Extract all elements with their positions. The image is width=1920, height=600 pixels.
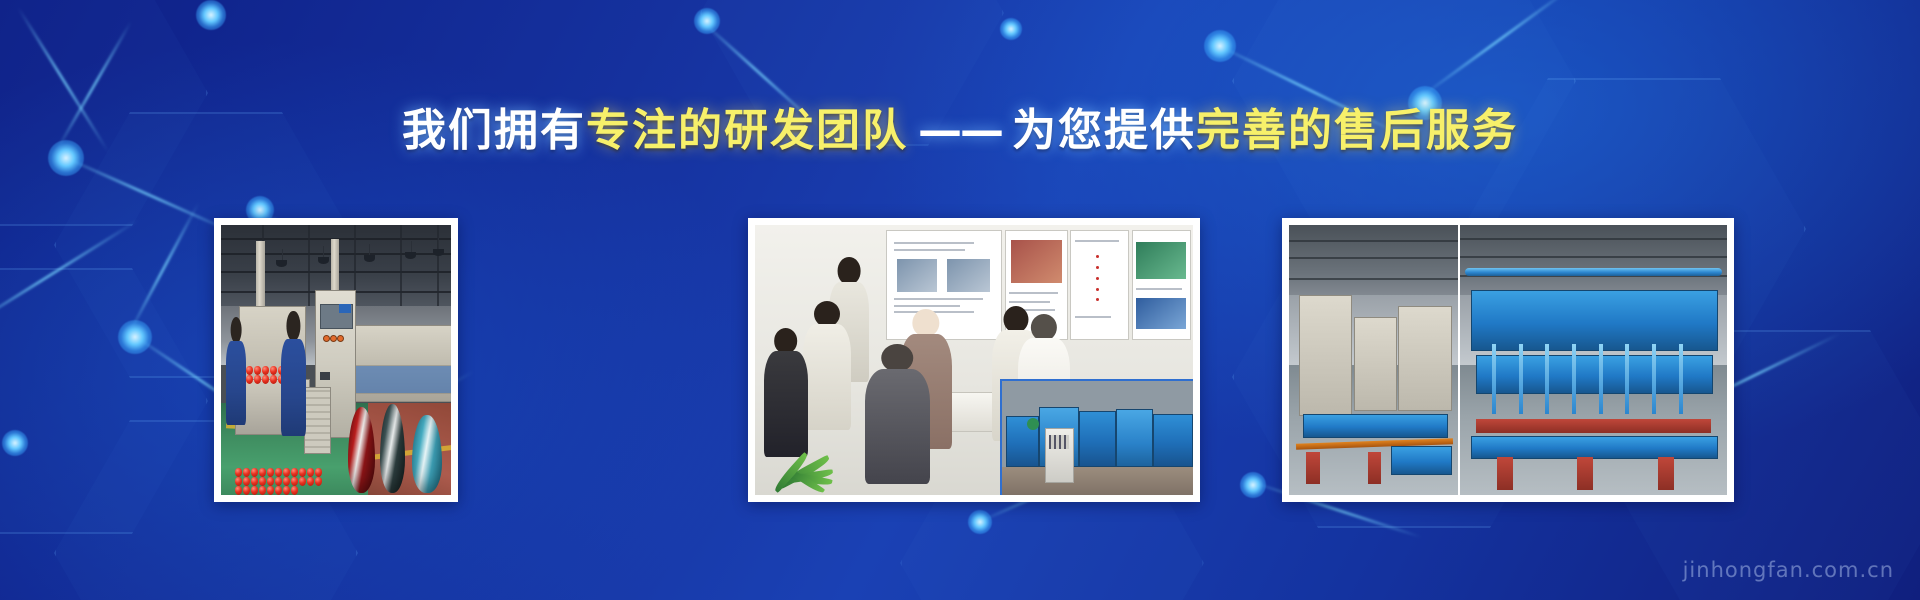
photo-gallery	[0, 218, 1920, 508]
technical-poster	[1132, 230, 1191, 340]
attendee	[865, 344, 931, 484]
promo-banner: 我们拥有专注的研发团队——为您提供完善的售后服务	[0, 0, 1920, 600]
factory-worker	[226, 317, 247, 425]
headline-segment-1: 我们拥有	[402, 105, 586, 156]
coating-equipment-inset	[1000, 379, 1193, 495]
glass-vase-dark	[380, 404, 405, 493]
technical-poster	[1070, 230, 1129, 340]
production-line-photo[interactable]	[214, 218, 458, 502]
headline-segment-2: 专注的研发团队	[586, 105, 908, 156]
factory-worker	[281, 311, 306, 435]
coating-equipment-photo[interactable]	[1282, 218, 1734, 502]
coating-line-left-view	[1289, 225, 1460, 495]
consultation-meeting-photo[interactable]	[748, 218, 1200, 502]
glass-vase-teal	[412, 415, 442, 493]
coating-equipment-image	[1289, 225, 1727, 495]
glass-vase-red	[348, 407, 376, 493]
consultation-meeting-image	[755, 225, 1193, 495]
parts-crate	[304, 387, 331, 454]
potted-plant	[773, 403, 869, 495]
production-line-image	[221, 225, 451, 495]
headline-segment-4: 为您提供	[1012, 105, 1196, 156]
headline-dash: ——	[908, 105, 1012, 156]
oven-side-wall	[354, 365, 451, 394]
site-watermark: jinhongfan.com.cn	[1683, 558, 1894, 582]
banner-headline: 我们拥有专注的研发团队——为您提供完善的售后服务	[0, 94, 1920, 158]
headline-segment-5: 完善的售后服务	[1196, 105, 1518, 156]
coating-line-right-view	[1458, 225, 1727, 495]
